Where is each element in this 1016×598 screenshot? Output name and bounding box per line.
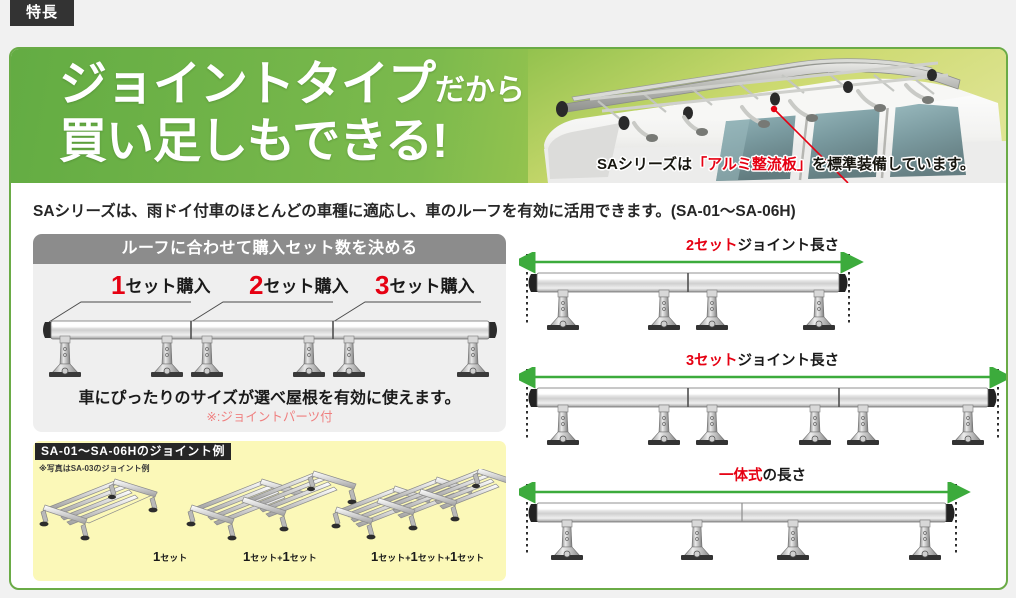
diagram-one-piece: 一体式の長さ xyxy=(519,464,1006,572)
joint-example-title: SA-01〜SA-06Hのジョイント例 xyxy=(35,443,231,460)
headline-main: ジョイントタイプ xyxy=(59,58,435,111)
set-text: セット購入 xyxy=(389,277,474,296)
set-label-1: 1セット購入 xyxy=(111,270,210,301)
lede-text: SAシリーズは、雨ドイ付車のほとんどの車種に適応し、車のルーフを有効に活用できま… xyxy=(33,199,796,221)
caption-pre: SAシリーズは xyxy=(597,156,692,173)
panel-note-text: ※:ジョイントパーツ付 xyxy=(33,406,506,425)
tab-features[interactable]: 特長 xyxy=(10,0,74,26)
headline-suffix: だから xyxy=(435,74,525,107)
hero-caption: SAシリーズは「アルミ整流板」を標準装備しています。 xyxy=(566,153,1006,179)
hero-banner: ジョイントタイプだから 買い足しもできる! SAシリーズは「アルミ整流板」を標準… xyxy=(11,49,1006,183)
set-label-group: 1セット購入 2セット購入 3セット購入 xyxy=(33,270,506,302)
joint-caption-3: 1セット+1セット+1セット xyxy=(371,549,484,564)
content-card: ジョイントタイプだから 買い足しもできる! SAシリーズは「アルミ整流板」を標準… xyxy=(9,47,1008,590)
caption-highlight: 「アルミ整流板」 xyxy=(692,156,812,173)
headline-line-2: 買い足しもできる! xyxy=(59,118,525,167)
set-text: セット購入 xyxy=(263,277,348,296)
set-selection-panel: ルーフに合わせて購入セット数を決める 1セット購入 2セット購入 3セット購入 xyxy=(33,234,506,432)
set-number: 2 xyxy=(249,270,263,300)
panel-footer-text: 車にぴったりのサイズが選べ屋根を有効に使えます。 xyxy=(33,384,506,408)
set-number: 3 xyxy=(375,270,389,300)
diagram-2-set: 2セットジョイント長さ xyxy=(519,234,1006,342)
caption-unit: セット+ xyxy=(250,553,282,563)
set-text: セット購入 xyxy=(125,277,210,296)
length-diagrams: 2セットジョイント長さ xyxy=(519,234,1006,579)
caption-unit: セット+ xyxy=(378,553,410,563)
diagram-3-set: 3セットジョイント長さ xyxy=(519,349,1006,457)
three-section-rack-illustration xyxy=(41,300,499,378)
caption-unit: セット+ xyxy=(418,553,450,563)
caption-unit: セット xyxy=(160,553,187,563)
caption-count: 1 xyxy=(283,549,290,564)
headline-line-1: ジョイントタイプだから xyxy=(59,61,525,110)
set-label-3: 3セット購入 xyxy=(375,270,474,301)
caption-count: 1 xyxy=(411,549,418,564)
set-number: 1 xyxy=(111,270,125,300)
joint-example-panel: SA-01〜SA-06Hのジョイント例 ※写真はSA-03のジョイント例 xyxy=(33,441,506,581)
joint-caption-1: 1セット xyxy=(153,549,187,564)
page-root: 特長 xyxy=(0,0,1016,598)
joint-caption-2: 1セット+1セット xyxy=(243,549,317,564)
caption-post: を標準装備しています。 xyxy=(812,156,975,173)
caption-unit: セット xyxy=(290,553,317,563)
panel-header: ルーフに合わせて購入セット数を決める xyxy=(33,234,506,264)
set-label-2: 2セット購入 xyxy=(249,270,348,301)
hero-headline: ジョイントタイプだから 買い足しもできる! xyxy=(59,61,525,167)
joint-example-images xyxy=(33,469,506,547)
caption-unit: セット xyxy=(457,553,484,563)
